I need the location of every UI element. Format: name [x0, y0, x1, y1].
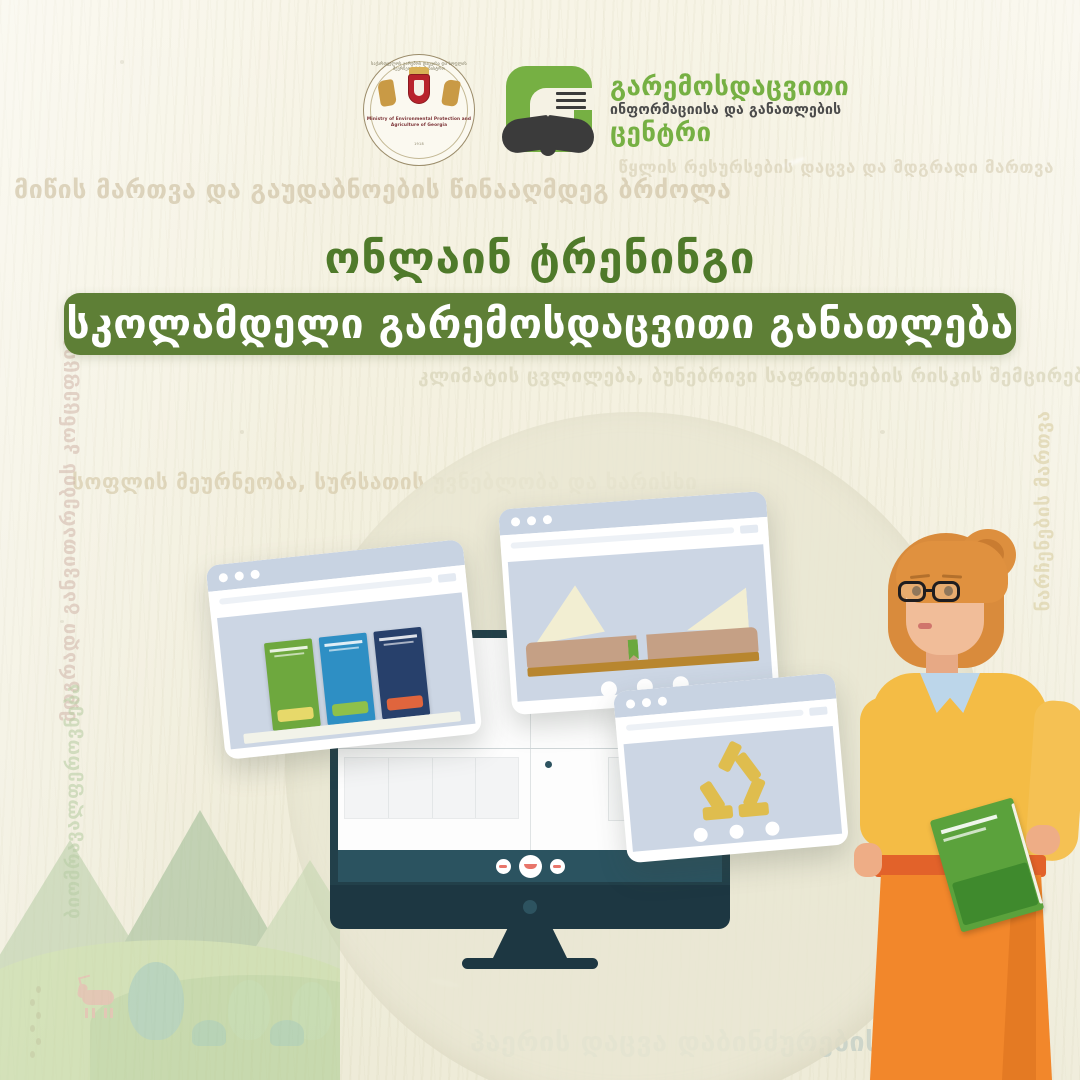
header: საქართველოს გარემოს დაცვისა და სოფლის მე…	[0, 52, 1080, 162]
bg-keyword-land-management: მიწის მართვა და გაუდაბნოების წინააღმდეგ …	[14, 175, 731, 204]
window-dot	[511, 517, 521, 527]
open-book-icon	[522, 575, 760, 683]
emblem-founded: 1918	[363, 142, 475, 146]
end-call-icon[interactable]	[519, 855, 542, 878]
center-logo-line2: ინფორმაციისა და განათლების	[610, 103, 849, 118]
bush-icon	[270, 1020, 304, 1046]
ministry-emblem-icon: საქართველოს გარემოს დაცვისა და სოფლის მე…	[363, 54, 475, 166]
books-window[interactable]	[206, 539, 483, 760]
window-dot	[543, 514, 553, 524]
forest-scene	[0, 780, 340, 1080]
headline-banner: სკოლამდელი გარემოსდაცვითი განათლება	[64, 293, 1016, 355]
center-logo: გარემოსდაცვითი ინფორმაციისა და განათლები…	[500, 60, 849, 160]
window-dot	[250, 569, 260, 579]
teacher-woman-illustration	[852, 525, 1080, 1080]
book-pages-left	[532, 584, 606, 645]
recycle-content	[624, 726, 843, 852]
window-dot	[218, 572, 228, 582]
monitor-neck	[492, 926, 568, 960]
open-book-content	[508, 544, 773, 702]
bg-keyword-climate-change: კლიმატის ცვლილება, ბუნებრივი საფრთხეების…	[418, 365, 1080, 387]
monitor-led	[523, 900, 537, 914]
deer-leg	[104, 1008, 107, 1018]
monitor-bezel	[330, 885, 730, 929]
window-dot	[527, 515, 537, 525]
window-dot	[626, 699, 636, 709]
center-logo-line1: გარემოსდაცვითი	[610, 73, 849, 101]
headline-banner-text: სკოლამდელი გარემოსდაცვითი განათლება	[66, 300, 1013, 348]
window-dot	[642, 697, 652, 707]
deer-leg	[92, 1008, 95, 1018]
book-cover	[373, 627, 430, 720]
eiec-book-icon	[500, 62, 596, 158]
recycle-window[interactable]	[613, 673, 849, 864]
deer-body	[82, 990, 114, 1005]
emblem-caption: Ministry of Environmental Protection and…	[363, 117, 475, 129]
glasses-icon	[898, 581, 966, 603]
monitor-foot	[462, 958, 598, 969]
window-dot	[234, 571, 244, 581]
tree-icon	[128, 962, 184, 1040]
deer-icon	[78, 982, 118, 1010]
bush-icon	[192, 1020, 226, 1046]
headline-kicker: ონლაინ ტრენინგი	[0, 233, 1080, 284]
right-hand	[1026, 825, 1060, 855]
window-dot	[658, 696, 668, 706]
poster-canvas: მიწის მართვა და გაუდაბნოების წინააღმდეგ …	[0, 0, 1080, 1080]
camera-icon[interactable]	[550, 859, 565, 874]
book-cover	[319, 633, 376, 726]
deer-leg	[110, 1008, 113, 1018]
lips	[918, 623, 932, 629]
tree-icon	[228, 980, 270, 1040]
left-arm	[860, 697, 906, 847]
center-logo-line3: ცენტრი	[610, 119, 849, 147]
paper-speck	[880, 430, 885, 434]
book-pages-right	[684, 587, 749, 633]
left-hand	[854, 843, 882, 877]
recycling-icon	[687, 744, 777, 829]
books-window-content	[217, 592, 475, 749]
mic-icon[interactable]	[496, 859, 511, 874]
emblem-shield	[408, 74, 430, 104]
paper-speck	[240, 430, 244, 434]
footprints-icon	[30, 980, 41, 1058]
deer-leg	[85, 1008, 88, 1018]
book-cover	[264, 638, 321, 731]
